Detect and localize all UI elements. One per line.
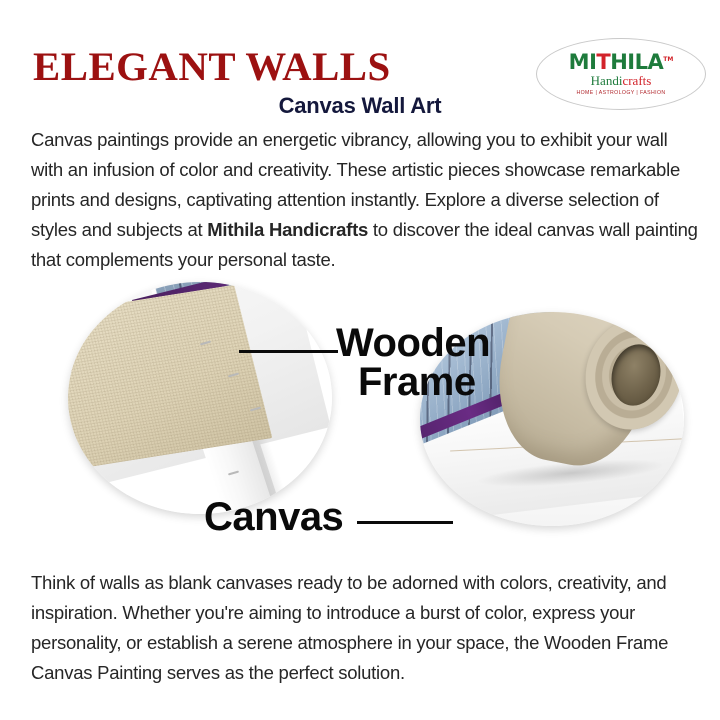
logo-sub-part1: Handi bbox=[591, 73, 623, 88]
canvas-label: Canvas bbox=[204, 498, 343, 537]
logo-wordmark: MITHILATM bbox=[569, 52, 674, 73]
wooden-frame-label: Wooden Frame bbox=[336, 324, 490, 402]
logo-word-part1: MI bbox=[569, 50, 597, 74]
page-title: ELEGANT WALLS bbox=[33, 47, 391, 87]
wooden-frame-scene bbox=[68, 282, 332, 514]
logo-subtext: Handicrafts bbox=[591, 74, 652, 88]
brand-mention: Mithila Handicrafts bbox=[207, 219, 368, 240]
closing-paragraph: Think of walls as blank canvases ready t… bbox=[31, 568, 699, 688]
logo-word-part2: T bbox=[596, 50, 610, 74]
wooden-frame-label-line1: Wooden bbox=[336, 321, 490, 365]
wooden-frame-leader-line bbox=[239, 350, 338, 353]
logo-word-part3: HILA bbox=[610, 50, 663, 74]
trademark-icon: TM bbox=[663, 56, 673, 63]
wooden-frame-label-line2: Frame bbox=[336, 363, 490, 402]
intro-paragraph: Canvas paintings provide an energetic vi… bbox=[31, 125, 699, 275]
logo-sub-part2: crafts bbox=[622, 73, 651, 88]
canvas-leader-line bbox=[357, 521, 453, 524]
wooden-frame-photo bbox=[68, 282, 332, 514]
page-subtitle: Canvas Wall Art bbox=[0, 93, 720, 119]
